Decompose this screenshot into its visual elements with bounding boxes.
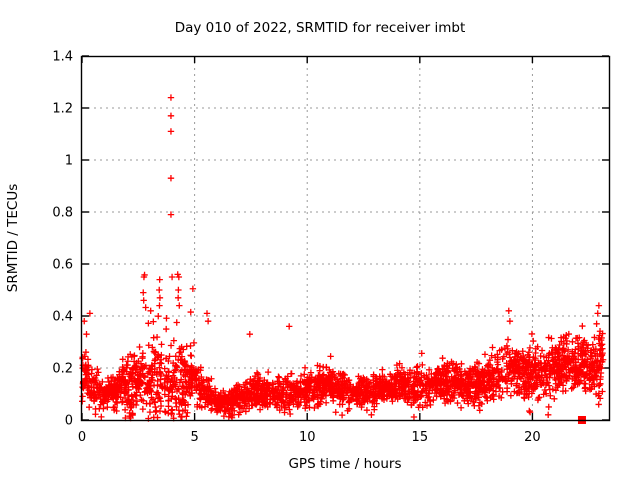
y-tick-label: 0.6 [52,258,73,273]
y-tick-label: 0.2 [52,362,73,377]
y-tick-label: 1.2 [52,102,73,117]
x-tick-label: 5 [190,430,198,445]
x-tick-label: 20 [524,430,541,445]
x-tick-label: 0 [78,430,86,445]
x-tick-label: 10 [299,430,316,445]
y-tick-label: 1 [65,154,73,169]
x-axis-label: GPS time / hours [288,456,401,472]
y-tick-label: 0.4 [52,310,73,325]
y-tick-label: 0.8 [52,206,73,221]
y-tick-label: 0 [65,414,73,429]
page-title: Day 010 of 2022, SRMTID for receiver imb… [175,20,466,36]
y-tick-label: 1.4 [52,50,73,65]
plot-canvas: Day 010 of 2022, SRMTID for receiver imb… [0,0,640,480]
scatter-plot-figure: Day 010 of 2022, SRMTID for receiver imb… [0,0,640,480]
x-tick-label: 15 [412,430,429,445]
y-axis-label: SRMTID / TECUs [5,184,21,292]
